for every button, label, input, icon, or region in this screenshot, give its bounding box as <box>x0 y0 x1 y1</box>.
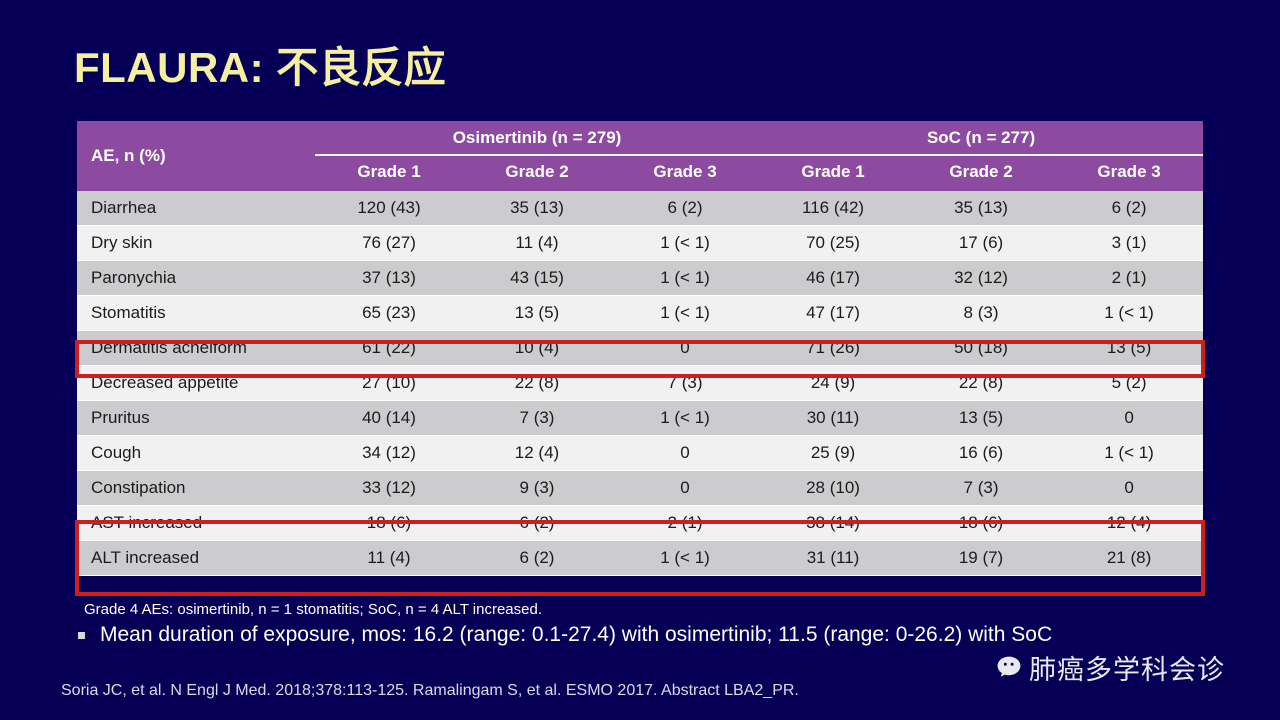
table-row: AST increased18 (6)6 (2)2 (1)38 (14)18 (… <box>77 506 1203 541</box>
cell-value: 7 (3) <box>463 401 611 436</box>
cell-value: 2 (1) <box>611 506 759 541</box>
cell-value: 0 <box>1055 401 1203 436</box>
cell-value: 1 (< 1) <box>1055 436 1203 471</box>
cell-value: 6 (2) <box>463 541 611 576</box>
cell-value: 1 (< 1) <box>611 541 759 576</box>
cell-value: 33 (12) <box>315 471 463 506</box>
cell-ae-name: AST increased <box>77 506 315 541</box>
cell-value: 1 (< 1) <box>1055 296 1203 331</box>
page-title: FLAURA: 不良反应 <box>74 34 446 95</box>
cell-value: 37 (13) <box>315 261 463 296</box>
table-header: AE, n (%) Osimertinib (n = 279) SoC (n =… <box>77 121 1203 191</box>
cell-value: 12 (4) <box>463 436 611 471</box>
cell-value: 71 (26) <box>759 331 907 366</box>
cell-value: 12 (4) <box>1055 506 1203 541</box>
cell-value: 70 (25) <box>759 226 907 261</box>
cell-value: 24 (9) <box>759 366 907 401</box>
cell-value: 22 (8) <box>463 366 611 401</box>
cell-value: 32 (12) <box>907 261 1055 296</box>
cell-value: 47 (17) <box>759 296 907 331</box>
cell-value: 50 (18) <box>907 331 1055 366</box>
cell-value: 5 (2) <box>1055 366 1203 401</box>
cell-value: 6 (2) <box>463 506 611 541</box>
cell-value: 0 <box>611 471 759 506</box>
cell-ae-name: ALT increased <box>77 541 315 576</box>
adverse-events-table: AE, n (%) Osimertinib (n = 279) SoC (n =… <box>77 121 1203 576</box>
footnote-bullet-row: Mean duration of exposure, mos: 16.2 (ra… <box>78 622 1178 648</box>
watermark: 肺癌多学科会诊 <box>996 648 1225 687</box>
cell-value: 38 (14) <box>759 506 907 541</box>
cell-value: 1 (< 1) <box>611 226 759 261</box>
cell-value: 9 (3) <box>463 471 611 506</box>
cell-value: 116 (42) <box>759 191 907 226</box>
cell-value: 18 (6) <box>907 506 1055 541</box>
cell-value: 25 (9) <box>759 436 907 471</box>
cell-value: 6 (2) <box>1055 191 1203 226</box>
table-body: Diarrhea120 (43)35 (13)6 (2)116 (42)35 (… <box>77 191 1203 576</box>
cell-value: 30 (11) <box>759 401 907 436</box>
table-row: Diarrhea120 (43)35 (13)6 (2)116 (42)35 (… <box>77 191 1203 226</box>
cell-value: 13 (5) <box>1055 331 1203 366</box>
table-row: Pruritus40 (14)7 (3)1 (< 1)30 (11)13 (5)… <box>77 401 1203 436</box>
cell-value: 2 (1) <box>1055 261 1203 296</box>
citation-text: Soria JC, et al. N Engl J Med. 2018;378:… <box>61 682 799 700</box>
page-title-cn: 不良反应 <box>276 43 446 92</box>
cell-value: 1 (< 1) <box>611 401 759 436</box>
watermark-label: 肺癌多学科会诊 <box>1029 648 1225 687</box>
table-row: Paronychia37 (13)43 (15)1 (< 1)46 (17)32… <box>77 261 1203 296</box>
cell-value: 40 (14) <box>315 401 463 436</box>
cell-ae-name: Dermatitis acneiform <box>77 331 315 366</box>
table-row: Cough34 (12)12 (4)025 (9)16 (6)1 (< 1) <box>77 436 1203 471</box>
cell-value: 65 (23) <box>315 296 463 331</box>
cell-value: 1 (< 1) <box>611 261 759 296</box>
table-group-header-row: AE, n (%) Osimertinib (n = 279) SoC (n =… <box>77 121 1203 155</box>
cell-ae-name: Dry skin <box>77 226 315 261</box>
table-row: Dermatitis acneiform61 (22)10 (4)071 (26… <box>77 331 1203 366</box>
cell-value: 13 (5) <box>907 401 1055 436</box>
cell-value: 46 (17) <box>759 261 907 296</box>
cell-value: 61 (22) <box>315 331 463 366</box>
footnote-grade4: Grade 4 AEs: osimertinib, n = 1 stomatit… <box>84 601 542 618</box>
table-row: Stomatitis65 (23)13 (5)1 (< 1)47 (17)8 (… <box>77 296 1203 331</box>
cell-value: 120 (43) <box>315 191 463 226</box>
column-header-osi-grade-2: Grade 2 <box>463 155 611 191</box>
cell-value: 10 (4) <box>463 331 611 366</box>
cell-value: 22 (8) <box>907 366 1055 401</box>
column-header-soc-grade-1: Grade 1 <box>759 155 907 191</box>
column-header-soc-grade-2: Grade 2 <box>907 155 1055 191</box>
cell-value: 76 (27) <box>315 226 463 261</box>
table-row: Decreased appetite27 (10)22 (8)7 (3)24 (… <box>77 366 1203 401</box>
cell-ae-name: Decreased appetite <box>77 366 315 401</box>
cell-value: 16 (6) <box>907 436 1055 471</box>
cell-value: 27 (10) <box>315 366 463 401</box>
cell-value: 31 (11) <box>759 541 907 576</box>
cell-ae-name: Pruritus <box>77 401 315 436</box>
cell-value: 17 (6) <box>907 226 1055 261</box>
cell-value: 35 (13) <box>907 191 1055 226</box>
cell-ae-name: Constipation <box>77 471 315 506</box>
cell-value: 34 (12) <box>315 436 463 471</box>
column-header-osi-grade-1: Grade 1 <box>315 155 463 191</box>
bullet-square-icon <box>78 632 85 639</box>
cell-value: 19 (7) <box>907 541 1055 576</box>
cell-value: 0 <box>1055 471 1203 506</box>
cell-value: 13 (5) <box>463 296 611 331</box>
column-group-osimertinib: Osimertinib (n = 279) <box>315 121 759 155</box>
cell-value: 18 (6) <box>315 506 463 541</box>
cell-value: 7 (3) <box>907 471 1055 506</box>
cell-value: 6 (2) <box>611 191 759 226</box>
cell-value: 1 (< 1) <box>611 296 759 331</box>
table-row: ALT increased11 (4)6 (2)1 (< 1)31 (11)19… <box>77 541 1203 576</box>
cell-value: 21 (8) <box>1055 541 1203 576</box>
cell-value: 0 <box>611 331 759 366</box>
cell-value: 8 (3) <box>907 296 1055 331</box>
cell-ae-name: Paronychia <box>77 261 315 296</box>
cell-value: 43 (15) <box>463 261 611 296</box>
column-header-osi-grade-3: Grade 3 <box>611 155 759 191</box>
cell-value: 11 (4) <box>463 226 611 261</box>
cell-value: 3 (1) <box>1055 226 1203 261</box>
cell-ae-name: Diarrhea <box>77 191 315 226</box>
table-row: Constipation33 (12)9 (3)028 (10)7 (3)0 <box>77 471 1203 506</box>
cell-value: 11 (4) <box>315 541 463 576</box>
table-row: Dry skin76 (27)11 (4)1 (< 1)70 (25)17 (6… <box>77 226 1203 261</box>
page-title-en: FLAURA: <box>74 44 264 91</box>
cell-value: 0 <box>611 436 759 471</box>
cell-value: 7 (3) <box>611 366 759 401</box>
column-group-soc: SoC (n = 277) <box>759 121 1203 155</box>
cell-ae-name: Stomatitis <box>77 296 315 331</box>
footnote-exposure-duration: Mean duration of exposure, mos: 16.2 (ra… <box>100 622 1052 648</box>
cell-value: 28 (10) <box>759 471 907 506</box>
wechat-icon <box>996 655 1022 680</box>
column-header-ae: AE, n (%) <box>77 121 315 191</box>
cell-ae-name: Cough <box>77 436 315 471</box>
cell-value: 35 (13) <box>463 191 611 226</box>
column-header-soc-grade-3: Grade 3 <box>1055 155 1203 191</box>
